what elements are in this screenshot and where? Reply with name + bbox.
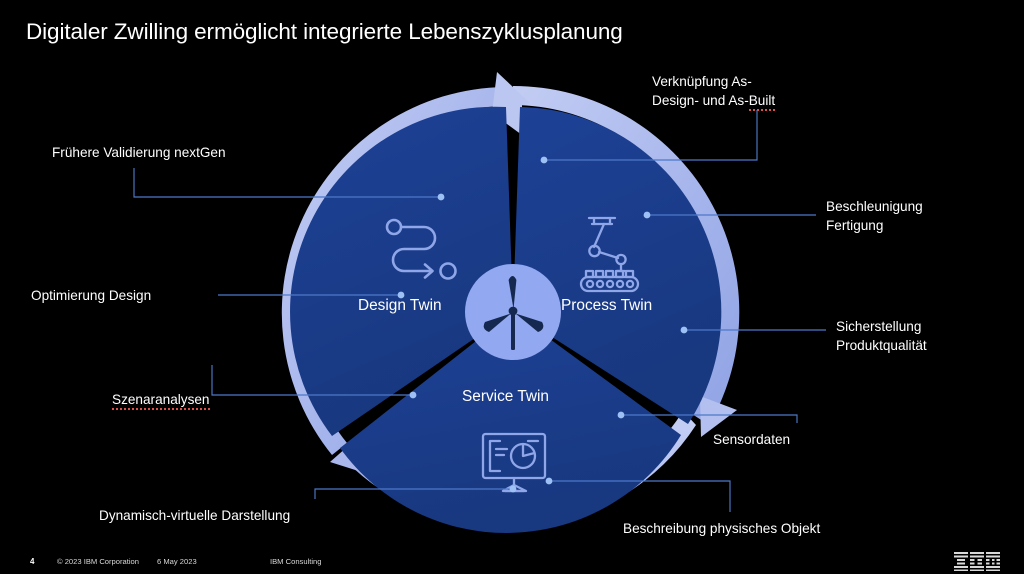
callout-szenaranalysen-spellword: Szenaranalysen <box>112 392 210 410</box>
segment-label-process-twin: Process Twin <box>561 297 652 315</box>
segment-label-service-twin: Service Twin <box>462 388 549 406</box>
callout-dynamisch: Dynamisch-virtuelle Darstellung <box>99 506 290 525</box>
callout-sensordaten: Sensordaten <box>713 430 790 449</box>
footer-date: 6 May 2023 <box>157 557 197 566</box>
ibm-logo <box>954 552 1000 571</box>
footer-business-unit: IBM Consulting <box>270 557 322 566</box>
callout-verknuepfung: Verknüpfung As- Design- und As-Built <box>652 72 775 110</box>
wheel-hub <box>465 264 561 360</box>
segment-label-design-twin: Design Twin <box>358 297 442 315</box>
slide-canvas: Digitaler Zwilling ermöglicht integriert… <box>0 0 1024 574</box>
callout-verknuepfung-spellword: Built <box>749 93 775 111</box>
digital-twin-wheel-diagram <box>0 0 1024 574</box>
footer-page-number: 4 <box>30 557 34 566</box>
slide-footer: 4 © 2023 IBM Corporation 6 May 2023 IBM … <box>0 548 1024 574</box>
callout-optimierung: Optimierung Design <box>31 286 151 305</box>
callout-verknuepfung-text: Verknüpfung As- Design- und As- <box>652 74 752 108</box>
callout-beschleunigung: Beschleunigung Fertigung <box>826 197 923 235</box>
callout-fruehere: Frühere Validierung nextGen <box>52 143 226 162</box>
footer-copyright: © 2023 IBM Corporation <box>57 557 139 566</box>
callout-beschreibung: Beschreibung physisches Objekt <box>623 519 820 538</box>
callout-szenaranalysen: Szenaranalysen <box>112 390 210 409</box>
callout-sicherstellung: Sicherstellung Produktqualität <box>836 317 927 355</box>
